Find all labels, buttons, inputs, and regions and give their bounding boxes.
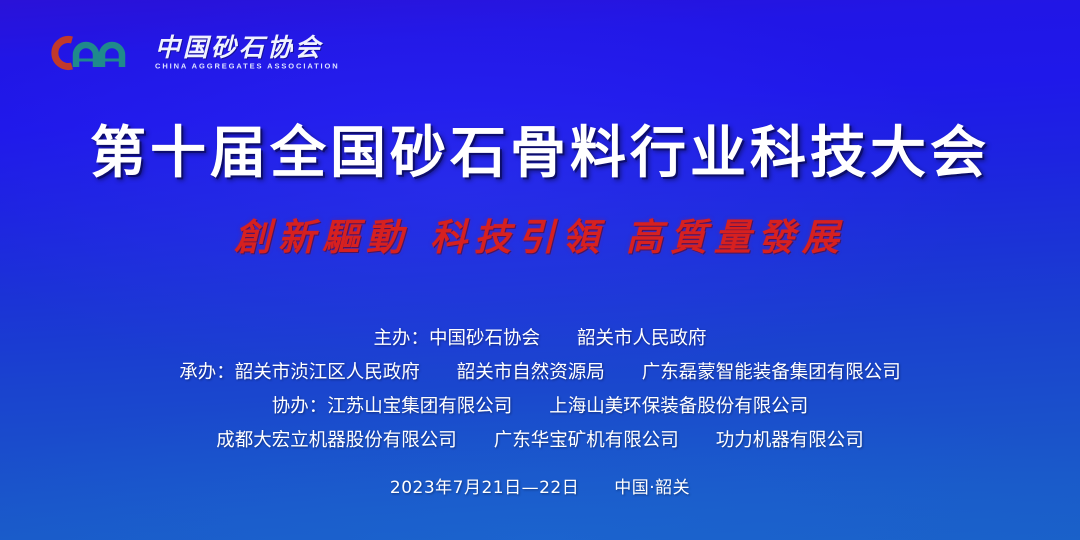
organizer-line-coorganizer: 协办：江苏山宝集团有限公司 上海山美环保装备股份有限公司 [0, 390, 1080, 424]
association-logo: 中国砂石协会 CHINA AGGREGATES ASSOCIATION [38, 27, 340, 79]
logo-chinese-name: 中国砂石协会 [155, 35, 340, 60]
organizer-line-coorganizer-cont: 成都大宏立机器股份有限公司 广东华宝矿机有限公司 功力机器有限公司 [0, 424, 1080, 458]
conference-slogan: 創新驅動 科技引領 高質量發展 [0, 207, 1080, 261]
date-and-location: 2023年7月21日—22日 中国·韶关 [0, 473, 1080, 498]
background-sheen [0, 0, 1080, 540]
organizer-line-undertaker: 承办：韶关市浈江区人民政府 韶关市自然资源局 广东磊蒙智能装备集团有限公司 [0, 356, 1080, 390]
conference-poster: 中国砂石协会 CHINA AGGREGATES ASSOCIATION 第十届全… [0, 0, 1080, 540]
logo-english-name: CHINA AGGREGATES ASSOCIATION [155, 63, 340, 70]
organizer-line-host: 主办：中国砂石协会 韶关市人民政府 [0, 322, 1080, 356]
conference-title: 第十届全国砂石骨料行业科技大会 [0, 108, 1080, 189]
organizer-block: 主办：中国砂石协会 韶关市人民政府 承办：韶关市浈江区人民政府 韶关市自然资源局… [0, 322, 1080, 458]
caa-monogram-icon [38, 31, 146, 75]
logo-text-group: 中国砂石协会 CHINA AGGREGATES ASSOCIATION [155, 35, 340, 71]
